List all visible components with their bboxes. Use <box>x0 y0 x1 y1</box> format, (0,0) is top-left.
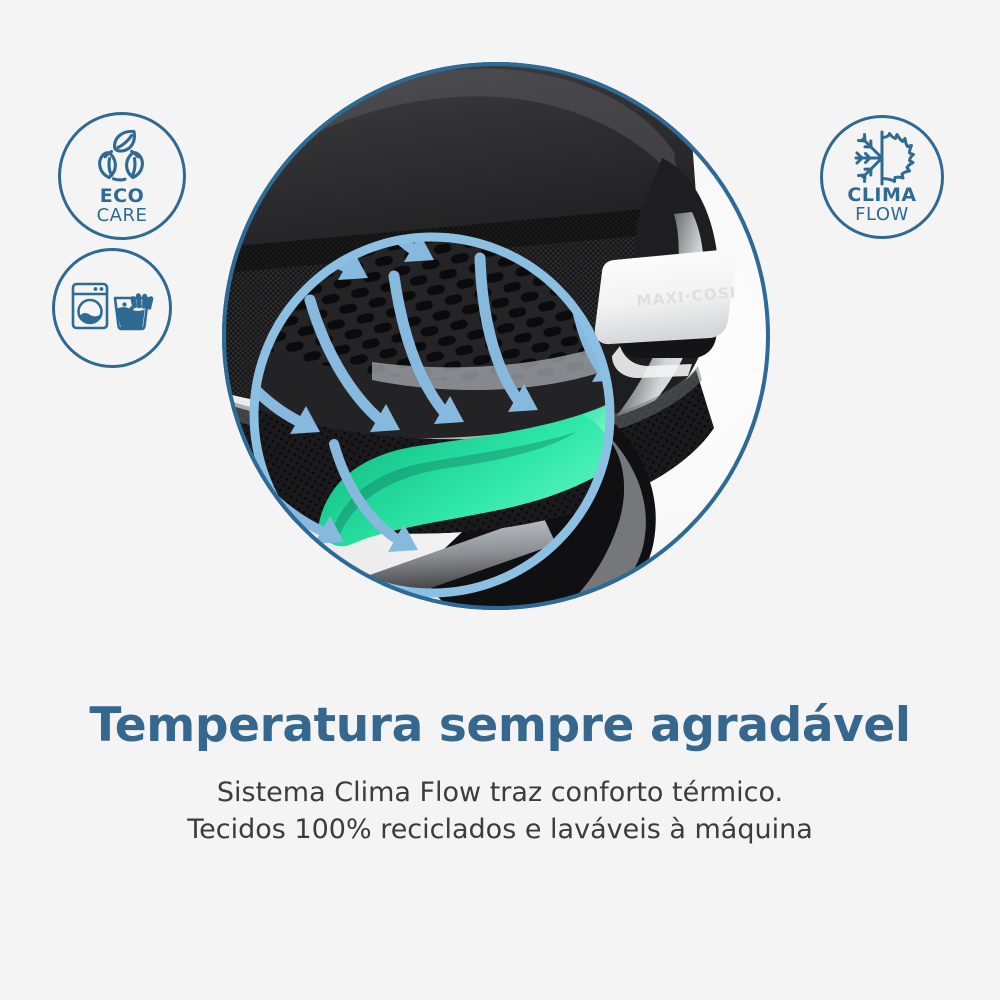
page-subtitle-line-2: Tecidos 100% reciclados e laváveis à máq… <box>0 811 1000 848</box>
page-title: Temperatura sempre agradável <box>0 700 1000 752</box>
poster-canvas: ECO CARE <box>0 0 1000 1000</box>
badge-clima-flow-line2: FLOW <box>847 206 916 224</box>
product-hero-circle: MAXI·COSI <box>222 62 770 610</box>
product-photo-clip: MAXI·COSI <box>222 62 770 610</box>
three-leaves-recycle-icon <box>83 127 161 187</box>
badge-clima-flow-label: CLIMA FLOW <box>847 186 916 224</box>
page-subtitle: Sistema Clima Flow traz conforto térmico… <box>0 774 1000 849</box>
washing-machine-and-handwash-icon <box>70 279 154 337</box>
badge-eco-care-label: ECO CARE <box>97 187 148 225</box>
page-subtitle-line-1: Sistema Clima Flow traz conforto térmico… <box>0 774 1000 811</box>
badge-clima-flow: CLIMA FLOW <box>820 115 944 239</box>
badge-clima-flow-line1: CLIMA <box>847 186 916 205</box>
snowflake-sun-icon <box>848 130 916 186</box>
badge-eco-care-line2: CARE <box>97 207 148 225</box>
car-seat-clima-flow-illustration: MAXI·COSI <box>222 62 770 610</box>
copy-block: Temperatura sempre agradável Sistema Cli… <box>0 700 1000 848</box>
badge-eco-care-line1: ECO <box>97 187 148 206</box>
badge-eco-care: ECO CARE <box>58 112 186 240</box>
badge-machine-washable <box>52 248 172 368</box>
